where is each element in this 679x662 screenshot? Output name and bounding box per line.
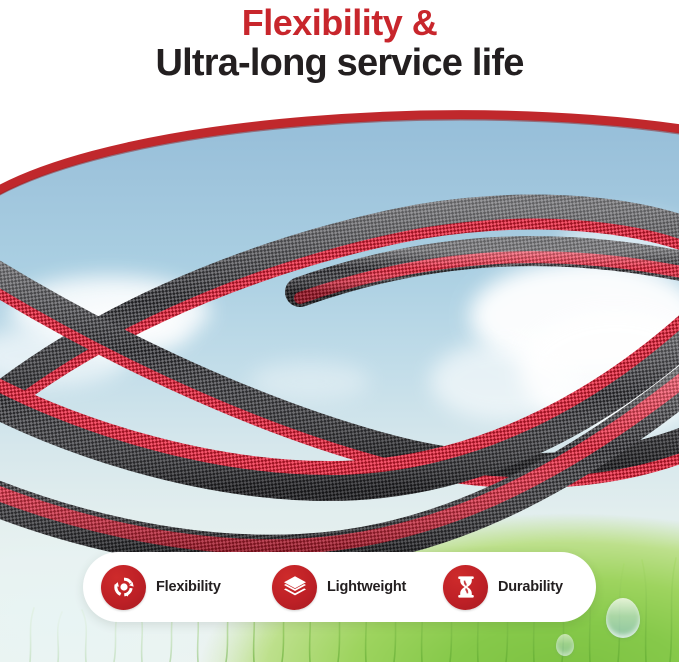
feature-bar: Flexibility Lightweight: [83, 552, 596, 622]
feature-label: Lightweight: [327, 579, 406, 595]
hourglass-icon: [443, 565, 488, 610]
feature-item-durability[interactable]: Durability: [425, 565, 596, 610]
hose-strand-top-right: [300, 251, 679, 298]
feature-item-flexibility[interactable]: Flexibility: [83, 565, 254, 610]
feature-label: Durability: [498, 579, 563, 595]
feature-label: Flexibility: [156, 579, 221, 595]
headline-line-1: Flexibility &: [0, 4, 679, 42]
flexibility-rotate-icon: [101, 565, 146, 610]
headline-line-2: Ultra-long service life: [0, 43, 679, 84]
feature-item-lightweight[interactable]: Lightweight: [254, 565, 425, 610]
page-title: Flexibility & Ultra-long service life: [0, 0, 679, 84]
layers-stack-icon: [272, 565, 317, 610]
